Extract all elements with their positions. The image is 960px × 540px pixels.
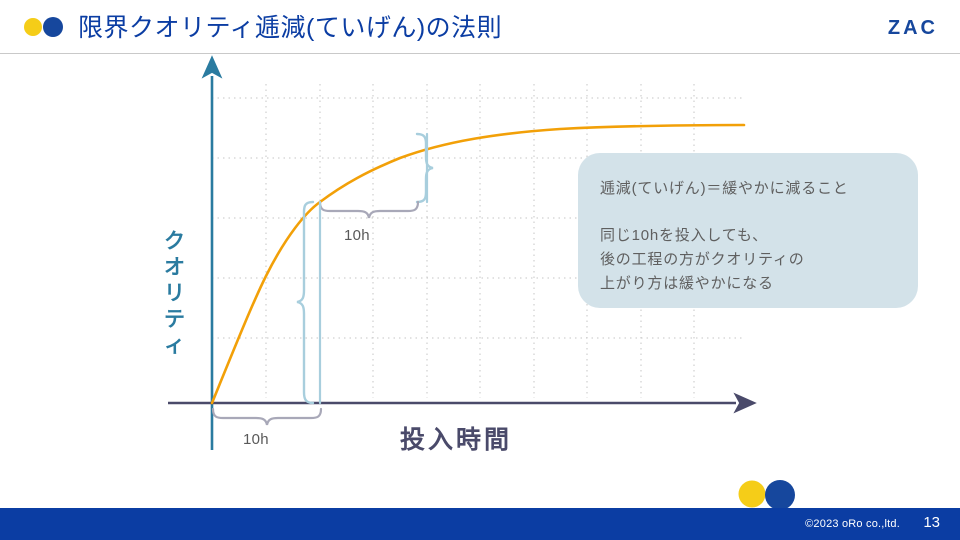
- brace-lower-span: [213, 409, 321, 425]
- brace-upper-gain: [417, 134, 433, 202]
- callout-body-text: 同じ10hを投入しても、 後の工程の方がクオリティの 上がり方は緩やかになる: [600, 224, 805, 296]
- slide-header: 限界クオリティ逓減(ていげん)の法則 ZAC: [0, 0, 960, 54]
- chart-area: クオリティ 投入時間 10h 10h 逓減(ていげん)＝緩やかに減ること 同じ1…: [0, 54, 960, 494]
- callout-definition-text: 逓減(ていげん)＝緩やかに減ること: [600, 177, 849, 201]
- page-title: 限界クオリティ逓減(ていげん)の法則: [78, 11, 502, 45]
- zac-logo-icon: [22, 17, 66, 37]
- header-brand-text: ZAC: [888, 16, 938, 40]
- brace-upper-span: [320, 202, 418, 218]
- brace-connectors: [320, 134, 427, 403]
- slide-canvas: 限界クオリティ逓減(ていげん)の法則 ZAC: [0, 0, 960, 540]
- slide-footer: ©2023 oRo co.,ltd. 13: [0, 508, 960, 540]
- explanation-callout: 逓減(ていげん)＝緩やかに減ること 同じ10hを投入しても、 後の工程の方がクオ…: [578, 153, 918, 308]
- span-label-second-10h: 10h: [344, 226, 370, 246]
- copyright-text: ©2023 oRo co.,ltd.: [805, 517, 900, 531]
- brace-lower-gain: [297, 202, 313, 403]
- y-axis-title: クオリティ: [160, 229, 190, 359]
- page-number: 13: [923, 514, 940, 532]
- span-label-first-10h: 10h: [243, 430, 269, 450]
- x-axis-title: 投入時間: [400, 425, 512, 455]
